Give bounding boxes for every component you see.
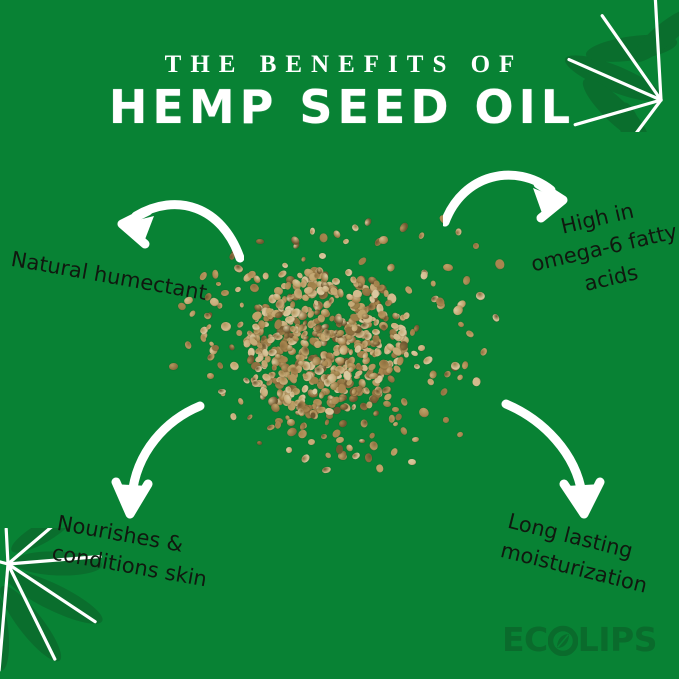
hemp-seed [430,280,436,287]
hemp-seed [184,340,193,350]
hemp-seed [218,389,226,395]
hemp-seed [372,410,379,417]
hemp-seed [456,373,464,381]
hemp-seed [443,369,452,378]
hemp-seed [394,412,403,421]
hemp-seed [207,373,215,380]
logo-text-before: EC [502,620,548,659]
hemp-seed [398,222,409,234]
hemp-seed [412,437,420,443]
hemp-seed [206,323,213,330]
hemp-seed [371,328,379,335]
hemp-seed [358,438,364,443]
hemp-seed [240,303,244,308]
hemp-seed [361,323,369,329]
hemp-seed [409,329,415,337]
hemp-seed [211,270,218,279]
hemp-seed [392,421,399,427]
hemp-seed [301,256,307,263]
hemp-seed [236,320,245,329]
hemp-seed [285,446,293,453]
ecolips-logo: EC LIPS [502,620,657,659]
hemp-seed [284,281,292,290]
hemp-seed [479,347,488,357]
hemp-seed [379,235,390,244]
hemp-seed [235,329,241,336]
hemp-seed [242,376,250,384]
hemp-seed [410,349,419,357]
hemp-seed [188,309,197,318]
hemp-seed [465,329,475,338]
hemp-seed [443,264,454,273]
hemp-seed [455,228,462,236]
hemp-seed [344,267,354,277]
curved-arrow-down-icon [104,398,224,528]
infographic-canvas: THE BENEFITS OF HEMP SEED OIL [0,0,679,679]
hemp-seed [236,397,244,406]
hemp-seed [404,285,413,294]
hemp-seed [229,253,236,261]
hemp-seed [408,458,416,465]
hemp-seed [228,360,240,372]
hemp-seed [457,321,465,328]
hemp-seed [315,367,324,375]
hemp-seed [418,232,426,241]
hemp-seed [369,440,380,452]
hemp-seed [372,334,380,343]
hemp-seed [422,355,434,366]
hemp-seed [257,440,263,444]
hemp-seed [256,239,264,245]
hemp-seed [321,433,328,439]
hemp-seed [230,412,237,420]
hemp-seed [351,403,357,410]
hemp-seed [456,431,464,438]
hemp-seed [386,374,396,384]
hemp-seed [369,431,377,439]
hemp-seed [392,406,399,411]
benefit-label-natural-humectant: Natural humectant [9,244,231,312]
hemp-seed [351,224,360,233]
hemp-seed [308,439,315,446]
hemp-seed [221,321,232,331]
hemp-seed [357,256,368,267]
hemp-seed [383,400,393,408]
hemp-seed [217,361,224,369]
hemp-seed [310,412,315,418]
hemp-seed [462,360,470,370]
hemp-seed [474,291,485,301]
hemp-seed [272,364,277,371]
benefit-label-long-lasting-moisturization: Long lasting moisturization [497,506,679,609]
hemp-seed [279,340,287,349]
hemp-seed [442,417,449,424]
hemp-seed [365,401,373,409]
hemp-seed [338,383,346,393]
hemp-seed [337,288,345,298]
hemp-seed [383,290,388,297]
logo-text-after: LIPS [578,620,657,659]
hemp-seed [389,447,398,457]
hemp-seed [274,353,280,359]
hemp-seed [491,313,500,323]
hemp-seed [313,340,322,349]
hemp-seed [364,453,372,463]
title-block: THE BENEFITS OF HEMP SEED OIL [0,52,679,131]
hemp-seed [286,426,299,438]
hemp-seed [386,262,397,273]
hemp-seed [400,426,409,436]
hemp-seed [321,466,331,474]
hemp-seed [360,419,368,428]
hemp-seed [439,387,449,397]
hemp-seed [281,262,289,270]
hemp-seed [228,343,235,351]
hemp-seed [249,282,261,293]
hemp-seed [471,377,480,387]
hemp-seed [289,325,297,332]
hemp-seed [351,452,360,460]
hemp-seed [461,275,470,286]
hemp-seed [324,419,330,426]
hemp-seed [338,419,349,429]
benefit-label-high-in-omega-6: High in omega-6 fatty acids [516,186,679,311]
hemp-seed [309,228,314,235]
hemp-seed [300,453,311,464]
hemp-seed [391,312,400,321]
page-title: HEMP SEED OIL [5,83,679,131]
hemp-seed [261,388,268,397]
hemp-seed [336,437,345,444]
hemp-seed [337,329,344,335]
hemp-seed [376,463,384,472]
hemp-seed [438,214,450,226]
hemp-seed [274,421,281,430]
hemp-seed [345,443,354,452]
logo-leaf-o-icon [548,624,578,656]
hemp-seed [286,418,295,426]
hemp-seed [319,392,324,399]
hemp-seed [320,233,328,242]
hemp-seed [473,243,480,249]
hemp-seed [262,272,268,280]
hemp-seed [319,252,327,259]
hemp-seed [233,263,244,273]
hemp-seed [417,344,425,351]
hemp-seed [246,413,253,420]
hemp-seed [400,397,409,407]
hemp-seed [403,351,408,357]
hemp-seed [293,288,302,298]
hemp-seed [235,286,243,293]
hemp-seed [332,229,341,239]
hemp-seeds-pile [208,206,508,476]
hemp-seed [266,424,275,431]
hemp-seed [342,238,349,245]
benefit-label-nourishes-conditions-skin: Nourishes & conditions skin [49,508,247,601]
eyebrow-text: THE BENEFITS OF [9,52,679,77]
hemp-seed [363,217,372,227]
hemp-seed [335,445,342,454]
hemp-seed [417,405,430,418]
hemp-seed [324,452,332,460]
hemp-seed [169,363,179,371]
hemp-seed [494,258,505,270]
hemp-seed [413,363,420,370]
hemp-seed [212,345,219,351]
